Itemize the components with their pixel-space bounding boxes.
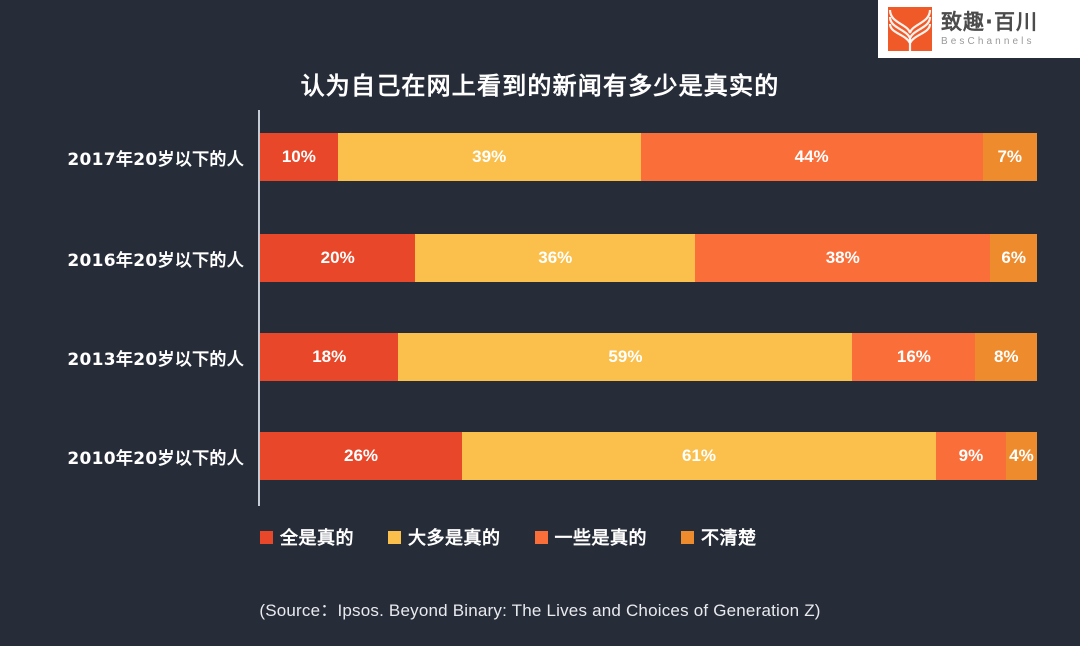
- bar-segment[interactable]: 61%: [462, 432, 936, 480]
- bar-segment[interactable]: 20%: [260, 234, 415, 282]
- bar-segment[interactable]: 9%: [936, 432, 1006, 480]
- stacked-bar: 18%59%16%8%: [260, 333, 1037, 381]
- bar-segment[interactable]: 4%: [1006, 432, 1037, 480]
- stacked-bar: 20%36%38%6%: [260, 234, 1037, 282]
- stacked-bar: 26%61%9%4%: [260, 432, 1037, 480]
- bar-segment[interactable]: 36%: [415, 234, 695, 282]
- bar-segment[interactable]: 39%: [338, 133, 641, 181]
- legend-swatch-icon: [535, 531, 548, 544]
- bar-row-label: 2010年20岁以下的人: [0, 432, 244, 480]
- bar-segment[interactable]: 6%: [990, 234, 1037, 282]
- bar-segment[interactable]: 38%: [695, 234, 990, 282]
- bar-segment[interactable]: 7%: [983, 133, 1037, 181]
- bar-segment[interactable]: 8%: [975, 333, 1037, 381]
- legend-item[interactable]: 一些是真的: [535, 524, 648, 550]
- bar-row: 2017年20岁以下的人10%39%44%7%: [0, 133, 1080, 181]
- legend-swatch-icon: [388, 531, 401, 544]
- bar-segment[interactable]: 16%: [852, 333, 975, 381]
- legend-label: 一些是真的: [555, 524, 648, 550]
- bar-row-label: 2016年20岁以下的人: [0, 234, 244, 282]
- chart-legend: 全是真的大多是真的一些是真的不清楚: [260, 524, 791, 550]
- source-note: (Source：Ipsos. Beyond Binary: The Lives …: [0, 596, 1080, 621]
- bar-row-label: 2017年20岁以下的人: [0, 133, 244, 181]
- bar-segment[interactable]: 18%: [260, 333, 398, 381]
- bar-row: 2016年20岁以下的人20%36%38%6%: [0, 234, 1080, 282]
- stacked-bar: 10%39%44%7%: [260, 133, 1037, 181]
- bar-segment[interactable]: 59%: [398, 333, 852, 381]
- legend-swatch-icon: [681, 531, 694, 544]
- legend-swatch-icon: [260, 531, 273, 544]
- bar-row: 2010年20岁以下的人26%61%9%4%: [0, 432, 1080, 480]
- legend-item[interactable]: 不清楚: [681, 524, 757, 550]
- bar-segment[interactable]: 26%: [260, 432, 462, 480]
- legend-label: 不清楚: [701, 524, 757, 550]
- bar-row-label: 2013年20岁以下的人: [0, 333, 244, 381]
- bar-segment[interactable]: 10%: [260, 133, 338, 181]
- bar-segment[interactable]: 44%: [641, 133, 983, 181]
- bar-row: 2013年20岁以下的人18%59%16%8%: [0, 333, 1080, 381]
- legend-label: 大多是真的: [408, 524, 501, 550]
- legend-item[interactable]: 全是真的: [260, 524, 354, 550]
- legend-label: 全是真的: [280, 524, 354, 550]
- legend-item[interactable]: 大多是真的: [388, 524, 501, 550]
